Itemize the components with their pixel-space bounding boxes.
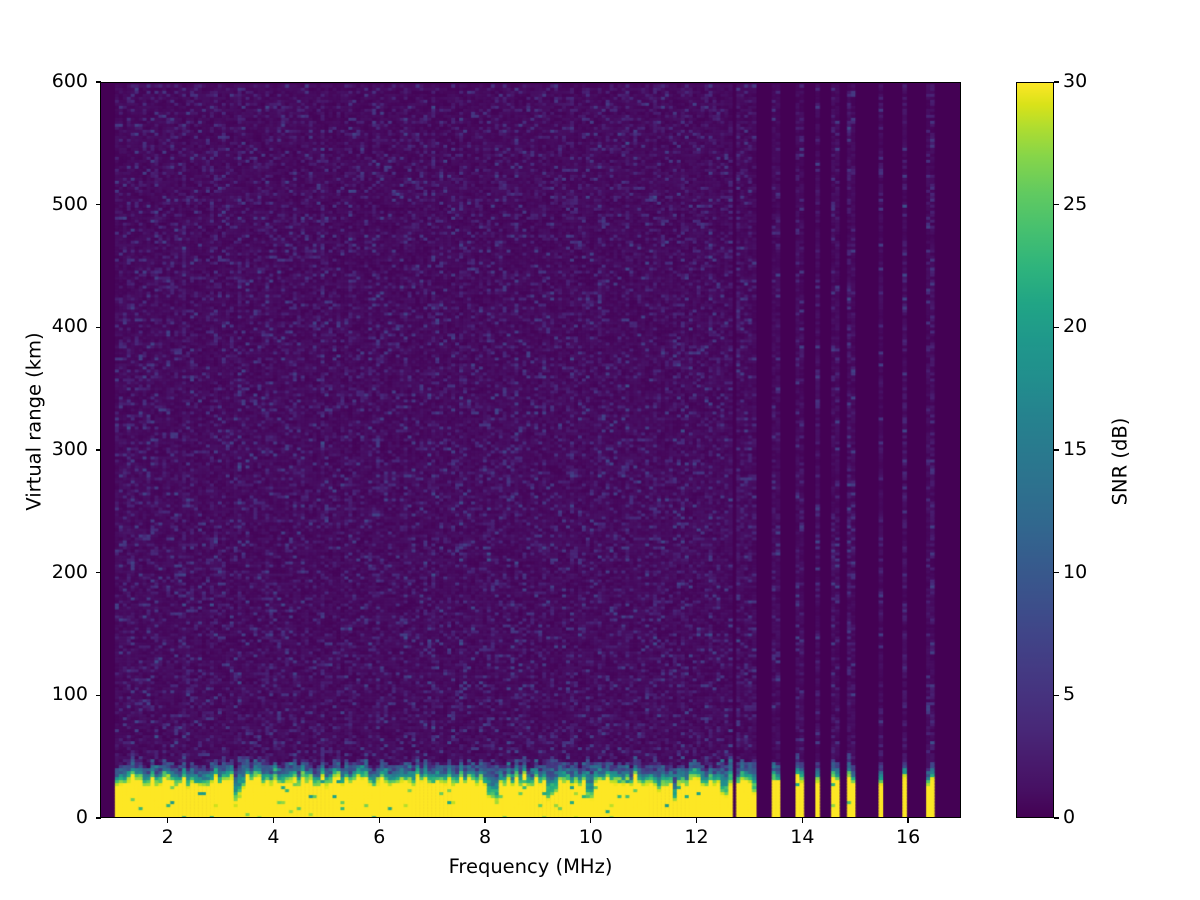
y-tick-mark — [96, 204, 101, 205]
figure-canvas: IRF Kiruna Ionosonde KI167 2025-12-11 06… — [0, 0, 1200, 900]
colorbar-tick-mark — [1054, 572, 1059, 573]
y-tick-label: 0 — [76, 808, 88, 827]
y-tick-mark — [96, 327, 101, 328]
colorbar-tick-label: 25 — [1063, 195, 1087, 214]
colorbar-tick-mark — [1054, 817, 1059, 818]
x-tick-mark — [484, 818, 485, 823]
x-tick-label: 8 — [450, 828, 520, 847]
x-tick-label: 12 — [662, 828, 732, 847]
y-tick-mark — [96, 572, 101, 573]
x-tick-mark — [590, 818, 591, 823]
x-tick-label: 4 — [238, 828, 308, 847]
colorbar-tick-mark — [1054, 81, 1059, 82]
colorbar-label: SNR (dB) — [1109, 342, 1132, 582]
x-tick-label: 16 — [873, 828, 943, 847]
colorbar-tick-label: 20 — [1063, 317, 1087, 336]
y-tick-mark — [96, 81, 101, 82]
colorbar-tick-label: 5 — [1063, 685, 1075, 704]
y-tick-mark — [96, 695, 101, 696]
colorbar-tick-label: 10 — [1063, 563, 1087, 582]
y-tick-label: 400 — [52, 317, 88, 336]
x-tick-mark — [273, 818, 274, 823]
x-tick-label: 14 — [767, 828, 837, 847]
x-tick-mark — [696, 818, 697, 823]
y-tick-label: 200 — [52, 563, 88, 582]
colorbar-tick-label: 15 — [1063, 440, 1087, 459]
ionogram-heatmap — [101, 83, 960, 817]
x-axis-label: Frequency (MHz) — [100, 855, 961, 878]
x-tick-mark — [907, 818, 908, 823]
y-tick-label: 300 — [52, 440, 88, 459]
colorbar-tick-label: 30 — [1063, 72, 1087, 91]
colorbar-tick-mark — [1054, 327, 1059, 328]
heatmap-axes — [100, 82, 961, 818]
x-tick-mark — [167, 818, 168, 823]
y-tick-label: 500 — [52, 195, 88, 214]
colorbar-tick-mark — [1054, 204, 1059, 205]
x-tick-label: 2 — [133, 828, 203, 847]
x-tick-mark — [379, 818, 380, 823]
x-tick-mark — [802, 818, 803, 823]
y-tick-mark — [96, 817, 101, 818]
y-axis-label: Virtual range (km) — [23, 302, 46, 542]
x-tick-label: 6 — [344, 828, 414, 847]
colorbar-gradient — [1016, 82, 1054, 818]
colorbar-tick-mark — [1054, 695, 1059, 696]
y-tick-mark — [96, 449, 101, 450]
x-tick-label: 10 — [556, 828, 626, 847]
colorbar-tick-mark — [1054, 449, 1059, 450]
y-tick-label: 100 — [52, 685, 88, 704]
y-tick-label: 600 — [52, 72, 88, 91]
colorbar-tick-label: 0 — [1063, 808, 1075, 827]
